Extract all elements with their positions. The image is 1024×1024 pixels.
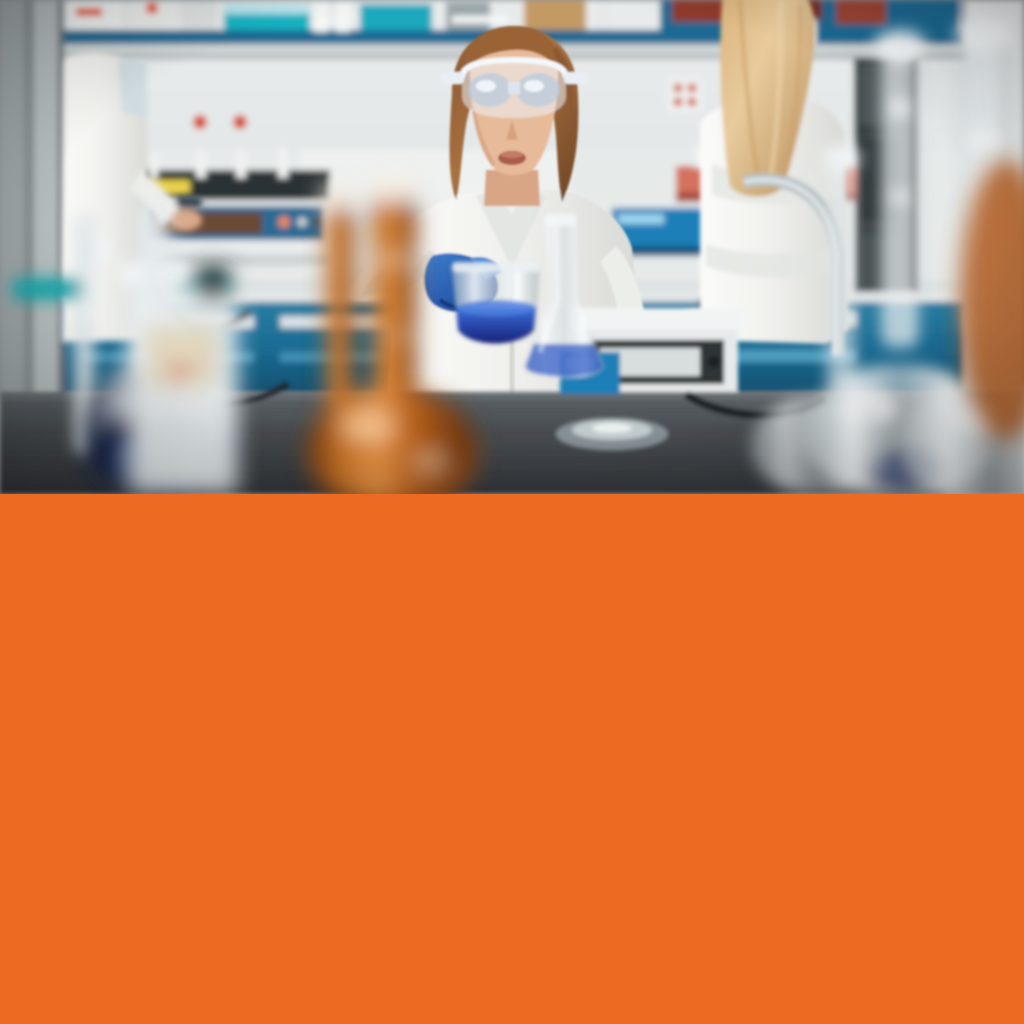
social-graphic-card: 500 xyxy=(0,0,1024,1024)
laboratory-scene-illustration: 500 xyxy=(0,0,1024,494)
laboratory-photo: 500 xyxy=(0,0,1024,494)
orange-text-panel: THERE IS A FINE LINE BETWEEN PASSION AND… xyxy=(0,494,1024,1024)
